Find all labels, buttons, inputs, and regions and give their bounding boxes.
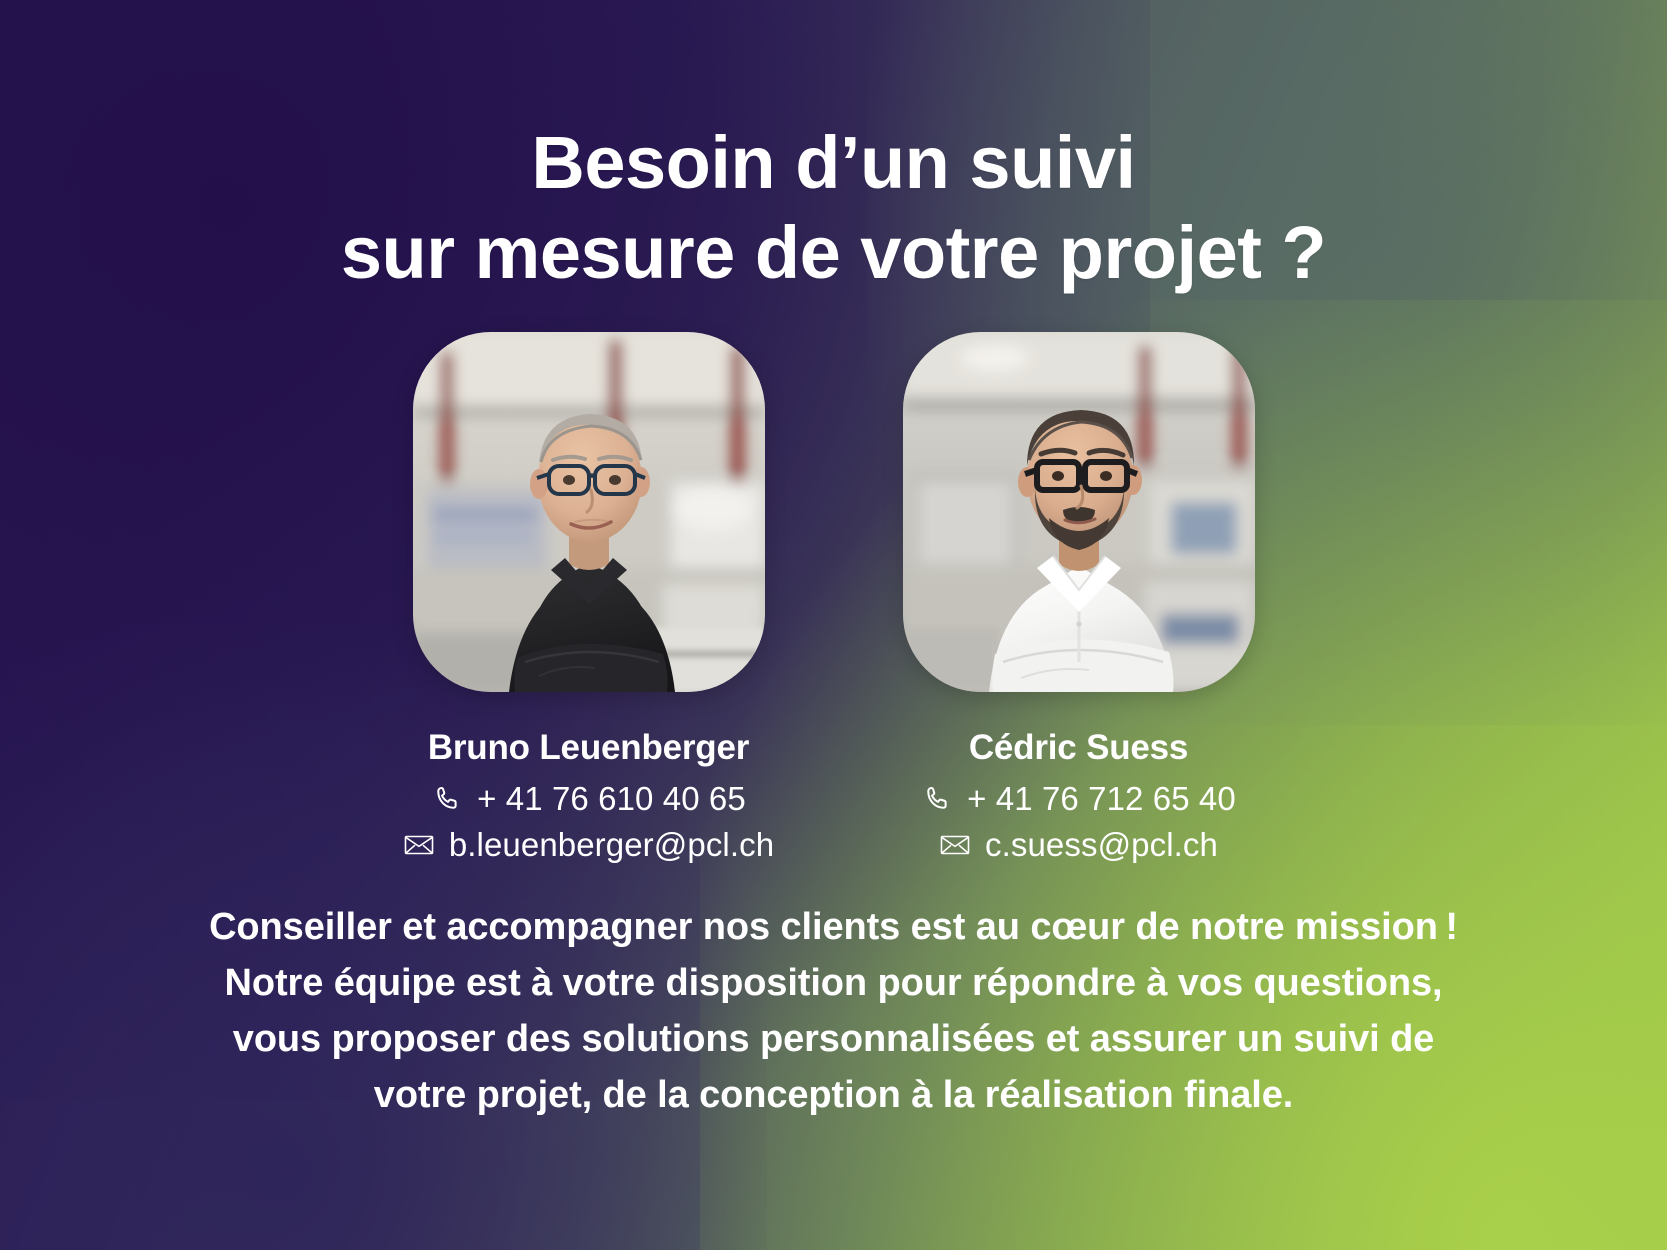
portrait-photo-bruno bbox=[413, 332, 765, 692]
mission-paragraph: Conseiller et accompagner nos clients es… bbox=[0, 900, 1667, 1123]
contact-card-list: Bruno Leuenberger + 41 76 610 40 65 bbox=[0, 332, 1667, 864]
contact-phone[interactable]: + 41 76 712 65 40 bbox=[921, 780, 1236, 818]
portrait-photo-cedric bbox=[903, 332, 1255, 692]
mission-line-3: vous proposer des solutions personnalisé… bbox=[0, 1012, 1667, 1068]
page-title: Besoin d’un suivi sur mesure de votre pr… bbox=[0, 118, 1667, 299]
contact-card: Bruno Leuenberger + 41 76 610 40 65 bbox=[409, 332, 769, 864]
contact-phone-text: + 41 76 712 65 40 bbox=[967, 780, 1236, 818]
contact-phone-text: + 41 76 610 40 65 bbox=[477, 780, 746, 818]
mission-line-4: votre projet, de la conception à la réal… bbox=[0, 1068, 1667, 1124]
title-line-2: sur mesure de votre projet ? bbox=[0, 208, 1667, 298]
mission-line-1: Conseiller et accompagner nos clients es… bbox=[0, 900, 1667, 956]
title-line-1: Besoin d’un suivi bbox=[0, 118, 1667, 208]
contact-email[interactable]: c.suess@pcl.ch bbox=[939, 826, 1218, 864]
contact-name: Cédric Suess bbox=[969, 728, 1188, 768]
contact-email[interactable]: b.leuenberger@pcl.ch bbox=[403, 826, 774, 864]
avatar bbox=[413, 332, 765, 692]
envelope-icon bbox=[939, 829, 971, 861]
avatar bbox=[903, 332, 1255, 692]
contact-name: Bruno Leuenberger bbox=[428, 728, 749, 768]
phone-icon bbox=[431, 783, 463, 815]
contact-card: Cédric Suess + 41 76 712 65 40 bbox=[899, 332, 1259, 864]
mission-line-2: Notre équipe est à votre disposition pou… bbox=[0, 956, 1667, 1012]
contact-email-text: c.suess@pcl.ch bbox=[985, 826, 1218, 864]
contact-phone[interactable]: + 41 76 610 40 65 bbox=[431, 780, 746, 818]
contact-slide: Besoin d’un suivi sur mesure de votre pr… bbox=[0, 0, 1667, 1250]
envelope-icon bbox=[403, 829, 435, 861]
phone-icon bbox=[921, 783, 953, 815]
contact-email-text: b.leuenberger@pcl.ch bbox=[449, 826, 774, 864]
